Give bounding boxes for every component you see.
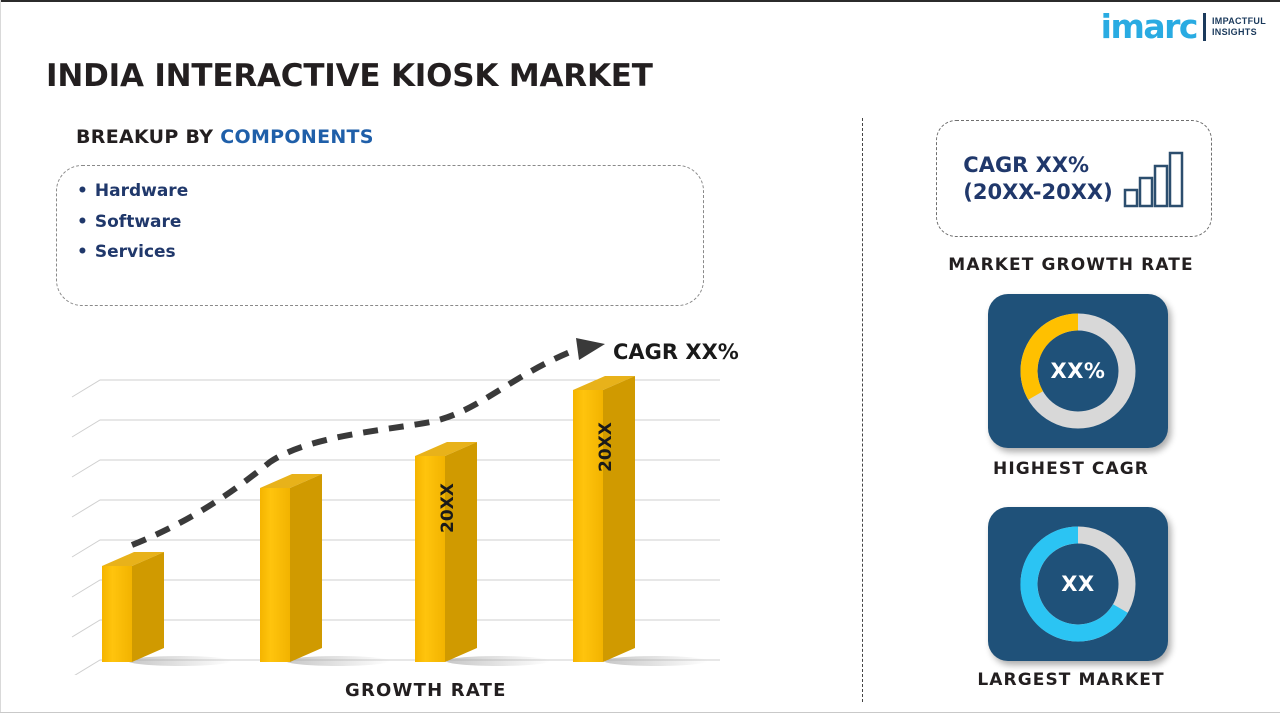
- page-top-border: [0, 0, 1280, 2]
- bar-chart-icon: [1123, 150, 1185, 208]
- logo-wordmark: imarc: [1101, 10, 1197, 43]
- cagr-line-2: (20XX-20XX): [963, 179, 1112, 205]
- highest-cagr-donut: [1012, 305, 1144, 437]
- list-item: Software: [77, 207, 188, 238]
- largest-market-donut: [1012, 518, 1144, 650]
- vertical-divider: [862, 118, 863, 702]
- list-item: Hardware: [77, 176, 188, 207]
- trend-arrowhead: [576, 338, 605, 360]
- components-box: Hardware Software Services: [56, 165, 704, 306]
- cagr-value-text: CAGR XX% (20XX-20XX): [963, 152, 1112, 205]
- components-list: Hardware Software Services: [77, 176, 188, 268]
- market-growth-rate-caption: MARKET GROWTH RATE: [862, 255, 1280, 275]
- imarc-logo: imarc IMPACTFUL INSIGHTS: [1101, 10, 1266, 43]
- bar-4: [573, 376, 635, 662]
- growth-bar-chart: 20XX 20XX: [60, 330, 740, 675]
- page-left-border: [0, 0, 1, 713]
- highest-cagr-card: XX%: [988, 294, 1168, 448]
- subtitle-prefix: BREAKUP BY: [76, 126, 220, 148]
- cagr-line-1: CAGR XX%: [963, 152, 1112, 178]
- logo-tagline-line1: IMPACTFUL: [1212, 16, 1266, 26]
- logo-tagline: IMPACTFUL INSIGHTS: [1212, 16, 1266, 37]
- highest-cagr-caption: HIGHEST CAGR: [862, 459, 1280, 479]
- section-subtitle: BREAKUP BY COMPONENTS: [76, 126, 374, 148]
- infographic-page: imarc IMPACTFUL INSIGHTS INDIA INTERACTI…: [0, 0, 1280, 720]
- largest-market-card: XX: [988, 507, 1168, 661]
- chart-cagr-label: CAGR XX%: [613, 340, 739, 364]
- logo-divider: [1203, 13, 1206, 41]
- subtitle-highlight: COMPONENTS: [220, 126, 374, 148]
- bar-1: [102, 552, 164, 662]
- list-item: Services: [77, 237, 188, 268]
- page-bottom-border: [0, 712, 1280, 713]
- bar-label-4: 20XX: [596, 422, 616, 472]
- bar-3: [415, 442, 477, 662]
- bar-chart-svg: [60, 330, 740, 675]
- trend-line: [132, 338, 605, 545]
- page-title: INDIA INTERACTIVE KIOSK MARKET: [46, 58, 653, 94]
- bar-label-3: 20XX: [438, 483, 458, 533]
- logo-tagline-line2: INSIGHTS: [1212, 27, 1266, 37]
- chart-xaxis-label: GROWTH RATE: [345, 680, 507, 701]
- largest-market-caption: LARGEST MARKET: [862, 670, 1280, 690]
- bar-2: [260, 474, 322, 662]
- market-growth-rate-box: CAGR XX% (20XX-20XX): [936, 120, 1212, 237]
